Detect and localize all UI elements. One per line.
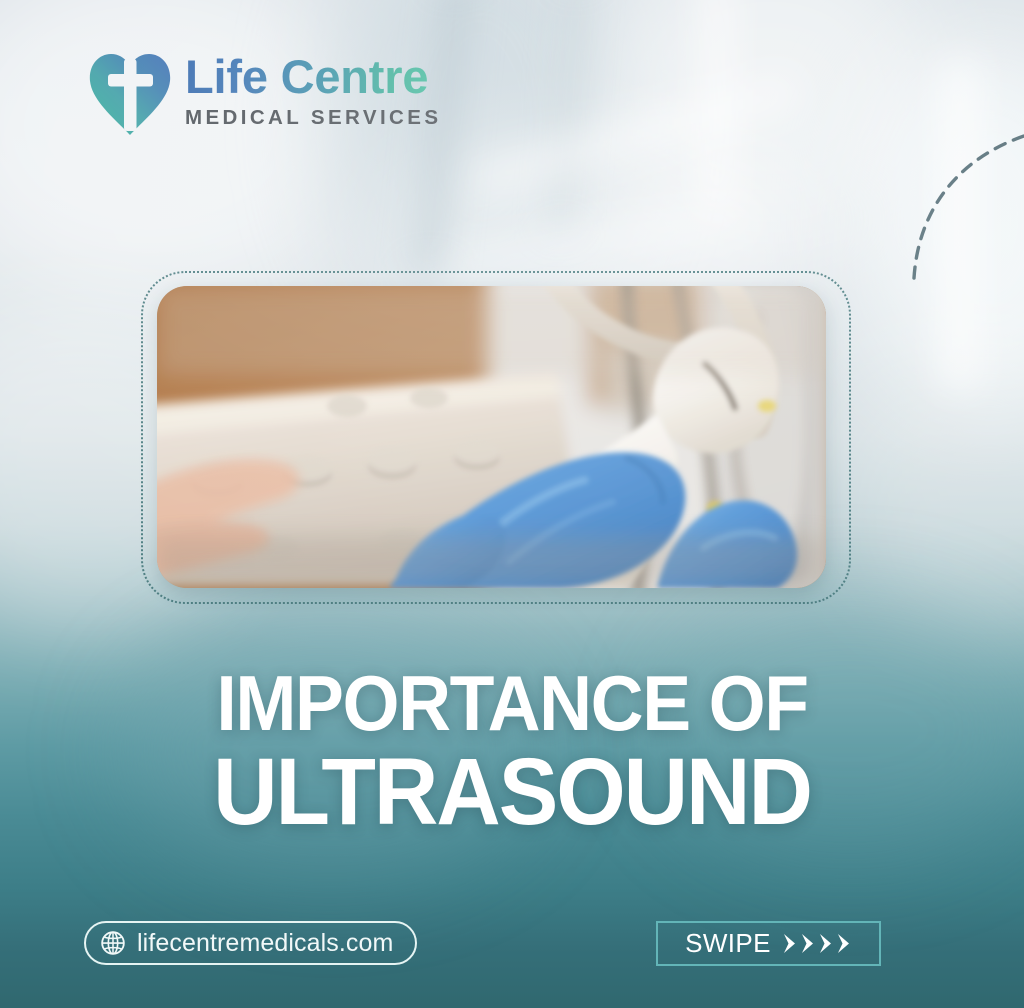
background-streak — [700, 0, 734, 210]
chevron-right-icon — [817, 932, 834, 955]
ultrasound-photo — [157, 286, 826, 588]
brand-tagline: MEDICAL SERVICES — [185, 106, 441, 130]
chevron-right-icon — [781, 932, 798, 955]
background-streak — [450, 204, 749, 278]
brand-logo[interactable]: Life Centre MEDICAL SERVICES — [88, 48, 441, 136]
background-streak — [940, 60, 980, 390]
background-blur-shape — [0, 0, 360, 290]
background-streak — [472, 75, 797, 195]
chevron-right-icon — [835, 932, 852, 955]
title-line-2: ULTRASOUND — [31, 744, 994, 841]
dashed-arc-icon — [880, 118, 1024, 283]
brand-name: Life Centre — [185, 54, 441, 100]
background-blur-shape — [860, 40, 1024, 400]
swipe-button[interactable]: SWIPE — [656, 921, 881, 966]
globe-icon — [100, 930, 126, 956]
background-blur-shape — [600, 0, 940, 240]
background-streak — [551, 0, 586, 230]
background-blur-shape — [840, 330, 1024, 630]
website-pill[interactable]: lifecentremedicals.com — [84, 921, 417, 965]
swipe-arrows — [781, 932, 852, 955]
social-post-canvas: Life Centre MEDICAL SERVICES — [0, 0, 1024, 1008]
chevron-right-icon — [799, 932, 816, 955]
brand-wordmark: Life Centre MEDICAL SERVICES — [185, 54, 441, 129]
heart-cross-icon — [88, 48, 172, 136]
page-title: IMPORTANCE OF ULTRASOUND — [0, 664, 1024, 841]
title-line-1: IMPORTANCE OF — [31, 664, 994, 742]
website-url: lifecentremedicals.com — [137, 929, 393, 958]
swipe-label: SWIPE — [685, 928, 771, 959]
